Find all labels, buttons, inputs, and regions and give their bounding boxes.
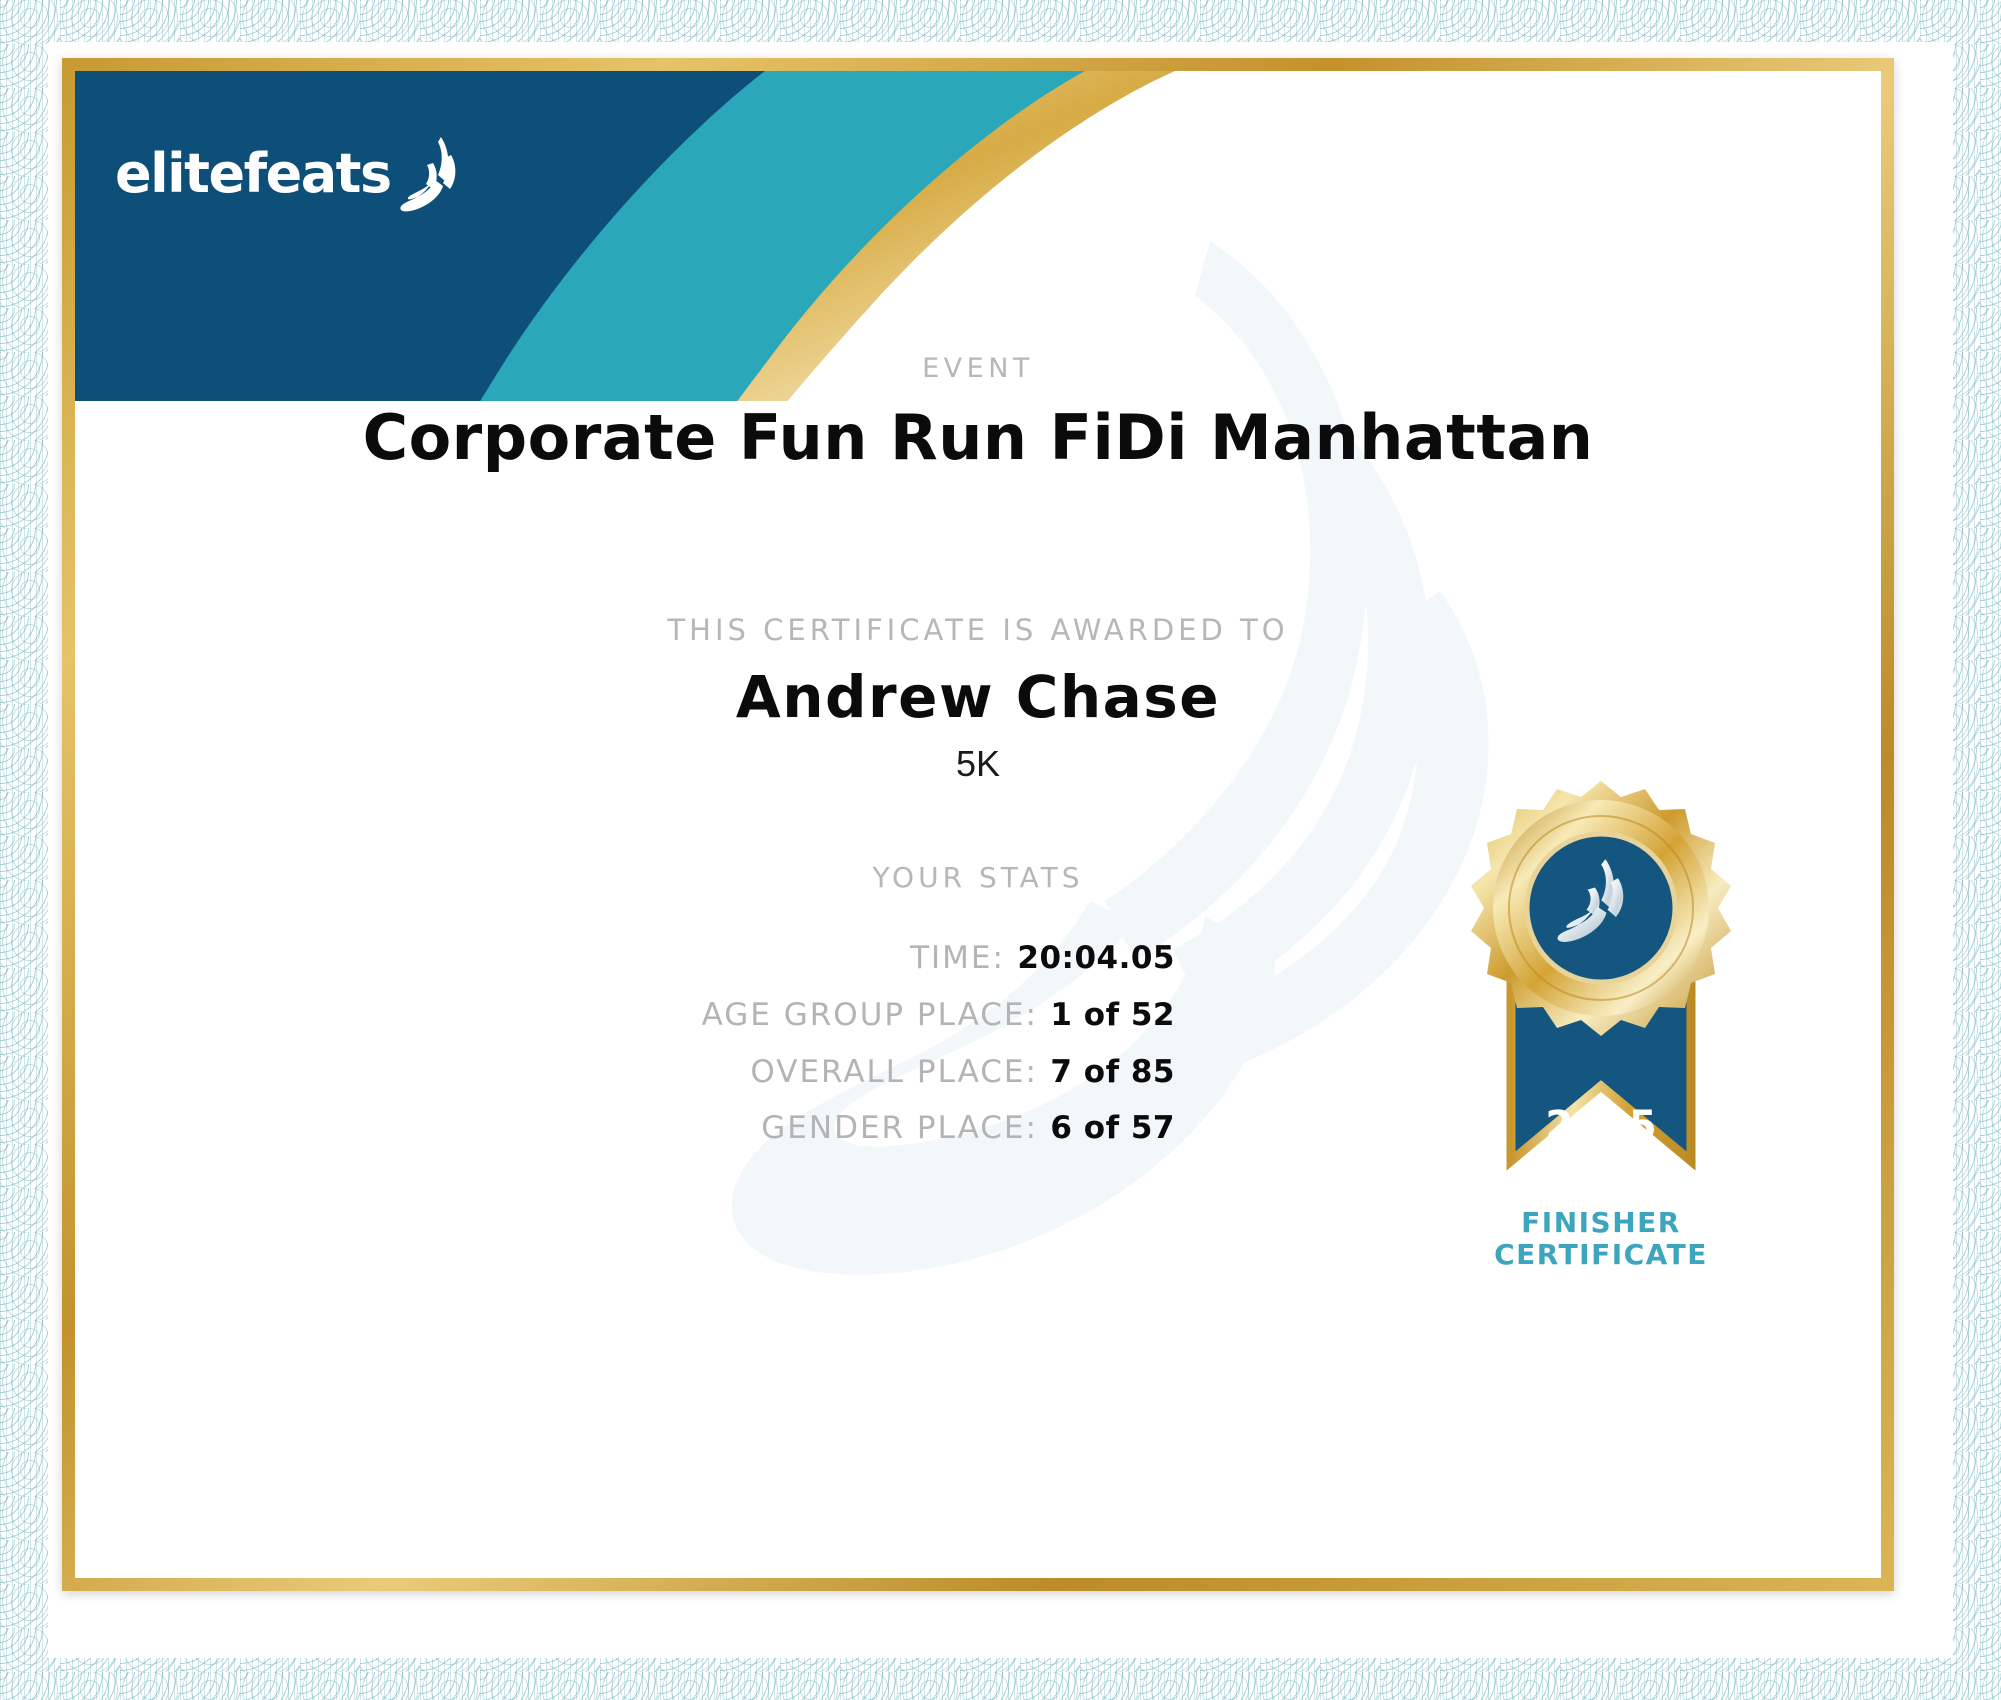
event-label: EVENT bbox=[75, 353, 1881, 384]
stat-value: 7 of 85 bbox=[1050, 1054, 1175, 1090]
stat-value: 1 of 52 bbox=[1050, 997, 1175, 1033]
certificate-page: elitefeats EVENT Corporate Fun Run FiDi … bbox=[0, 0, 2001, 1700]
brand-logo-text: elitefeats bbox=[115, 142, 391, 205]
stat-value: 6 of 57 bbox=[1050, 1110, 1175, 1146]
stat-label: OVERALL PLACE: bbox=[750, 1054, 1038, 1090]
gold-border-frame: elitefeats EVENT Corporate Fun Run FiDi … bbox=[62, 58, 1894, 1591]
certificate-content: EVENT Corporate Fun Run FiDi Manhattan T… bbox=[75, 71, 1881, 1578]
stat-label: AGE GROUP PLACE: bbox=[702, 997, 1038, 1033]
stats-list: TIME: 20:04.05 AGE GROUP PLACE: 1 of 52 … bbox=[75, 939, 1175, 1166]
stat-label: TIME: bbox=[910, 940, 1005, 976]
awarded-to-label: THIS CERTIFICATE IS AWARDED TO bbox=[75, 613, 1881, 647]
stat-value: 20:04.05 bbox=[1017, 940, 1175, 976]
winged-foot-icon bbox=[397, 133, 467, 213]
finisher-seal: 2025 FINISHER CERTIFICATE bbox=[1451, 771, 1751, 1272]
seal-graphic: 2025 bbox=[1451, 771, 1751, 1211]
stat-label: GENDER PLACE: bbox=[761, 1110, 1038, 1146]
stat-row: GENDER PLACE: 6 of 57 bbox=[75, 1109, 1175, 1148]
brand-logo: elitefeats bbox=[115, 133, 467, 213]
seal-caption: FINISHER CERTIFICATE bbox=[1451, 1207, 1751, 1272]
stat-row: AGE GROUP PLACE: 1 of 52 bbox=[75, 996, 1175, 1035]
certificate-card: elitefeats EVENT Corporate Fun Run FiDi … bbox=[75, 71, 1881, 1578]
stat-row: OVERALL PLACE: 7 of 85 bbox=[75, 1053, 1175, 1092]
recipient-name: Andrew Chase bbox=[75, 663, 1881, 731]
seal-caption-line2: CERTIFICATE bbox=[1451, 1239, 1751, 1271]
seal-caption-line1: FINISHER bbox=[1451, 1207, 1751, 1239]
seal-year: 2025 bbox=[1545, 1103, 1656, 1149]
event-title: Corporate Fun Run FiDi Manhattan bbox=[75, 401, 1881, 474]
stat-row: TIME: 20:04.05 bbox=[75, 939, 1175, 978]
